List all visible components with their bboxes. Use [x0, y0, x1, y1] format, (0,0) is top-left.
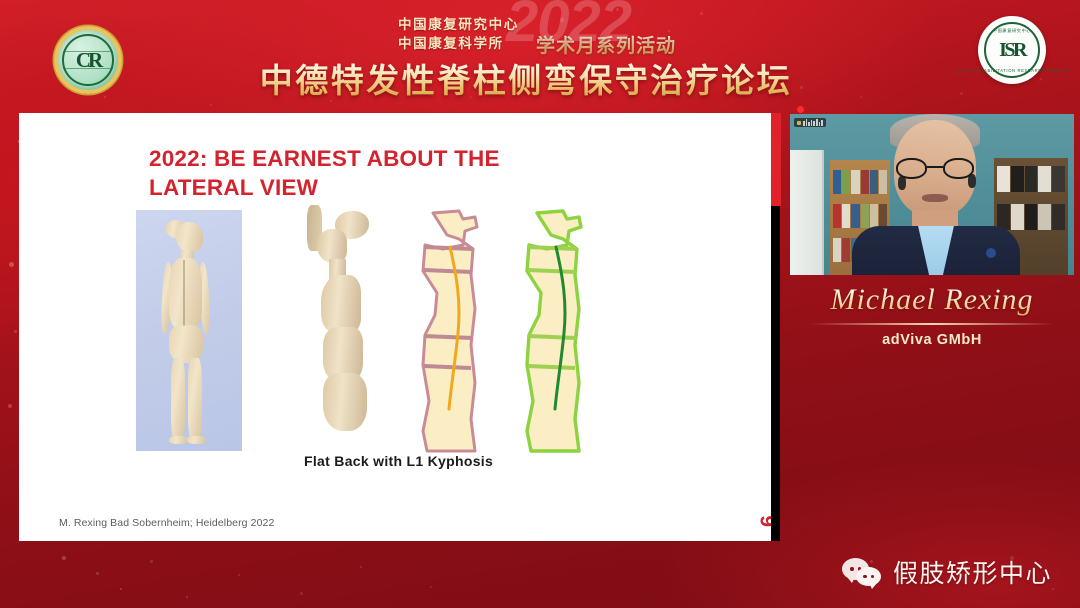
figure-lateral-torso-scan [307, 205, 393, 451]
lateral-head [317, 229, 347, 263]
presenter-organization: adViva GMbH [792, 332, 1072, 348]
badge-marker-icon [797, 121, 801, 125]
outline-diagram-svg-b [517, 205, 609, 455]
logo-right-arc-top: 中国康复研究中心 [993, 28, 1031, 34]
bokeh-particle [238, 574, 240, 576]
bokeh-particle [62, 556, 66, 560]
bookshelf-row [830, 170, 890, 194]
figure-caption: Flat Back with L1 Kyphosis [304, 453, 493, 469]
bookshelf-row [830, 204, 890, 228]
bokeh-particle [14, 330, 17, 333]
bokeh-particle [9, 262, 14, 267]
scan-foot-right [187, 436, 206, 444]
bokeh-particle [430, 586, 432, 588]
bookshelf-row [994, 166, 1068, 192]
scan-head [176, 222, 203, 253]
organizer-line-1: 中国康复研究中心 [398, 15, 519, 34]
recording-indicator-icon [797, 106, 804, 113]
scan-foot-left [169, 436, 188, 444]
video-view-badge[interactable] [794, 118, 826, 127]
video-background-door [790, 150, 824, 275]
organizer-names: 中国康复研究中心 中国康复科学所 [398, 15, 519, 53]
wechat-account-name: 假肢矫形中心 [893, 554, 1052, 590]
figure-outline-corrected [517, 205, 609, 455]
slide-page-number: 9 [755, 515, 771, 527]
organizer-line-2: 中国康复科学所 [398, 34, 519, 53]
nameplate-divider [810, 323, 1054, 325]
presenter-glasses [896, 158, 974, 179]
bokeh-particle [120, 588, 122, 590]
bokeh-particle [150, 560, 153, 563]
slide-footer-citation: M. Rexing Bad Sobernheim; Heidelberg 202… [59, 517, 274, 529]
forum-main-title: 中德特发性脊柱侧弯保守治疗论坛 [0, 54, 1080, 102]
event-header-banner: CR 2022 中国康复研究中心 中国康复科学所 学术月系列活动 中德特发性脊柱… [0, 0, 1080, 110]
bokeh-particle [300, 592, 303, 595]
logo-right-arc-bottom: CHINA REHABILITATION RESEARCH CENTER [956, 68, 1068, 73]
glasses-lens-left [896, 158, 927, 179]
wechat-icon [842, 558, 882, 586]
scan-torso [169, 258, 202, 330]
lateral-pelvis [323, 373, 367, 431]
bokeh-particle [8, 404, 12, 408]
presenter-name: Michael Rexing [792, 283, 1072, 317]
slide-title: 2022: BE EARNEST ABOUT THE LATERAL VIEW [149, 144, 579, 202]
lapel-pin-icon [986, 248, 996, 258]
wechat-bubble-small [856, 567, 881, 586]
shared-presentation-slide[interactable]: 2022: BE EARNEST ABOUT THE LATERAL VIEW [19, 113, 771, 541]
figure-posterior-body-scan [136, 210, 242, 451]
scan-leg-right [188, 358, 202, 441]
outline-diagram-svg-a [413, 205, 505, 455]
bokeh-particle [1052, 588, 1054, 590]
bokeh-particle [360, 566, 362, 568]
presenter-video-tile[interactable] [790, 114, 1074, 275]
logo-isr-right: 中国康复研究中心 ISR CHINA REHABILITATION RESEAR… [978, 16, 1046, 84]
logo-right-ring: 中国康复研究中心 ISR CHINA REHABILITATION RESEAR… [984, 22, 1040, 78]
badge-label-glyphs [803, 119, 823, 126]
wechat-handle-footer: 假肢矫形中心 [842, 554, 1052, 590]
bokeh-particle [96, 572, 99, 575]
bokeh-particle [186, 596, 188, 598]
figure-outline-flat-back [413, 205, 505, 455]
logo-right-monogram: ISR [999, 39, 1025, 62]
glasses-lens-right [943, 158, 974, 179]
scan-leg-left [171, 358, 185, 441]
presenter-nameplate: Michael Rexing adViva GMbH [792, 283, 1072, 348]
presenter-mouth [922, 194, 948, 202]
lateral-chest [321, 275, 361, 333]
bookshelf-row [994, 204, 1068, 230]
scan-spine-line [183, 260, 185, 326]
